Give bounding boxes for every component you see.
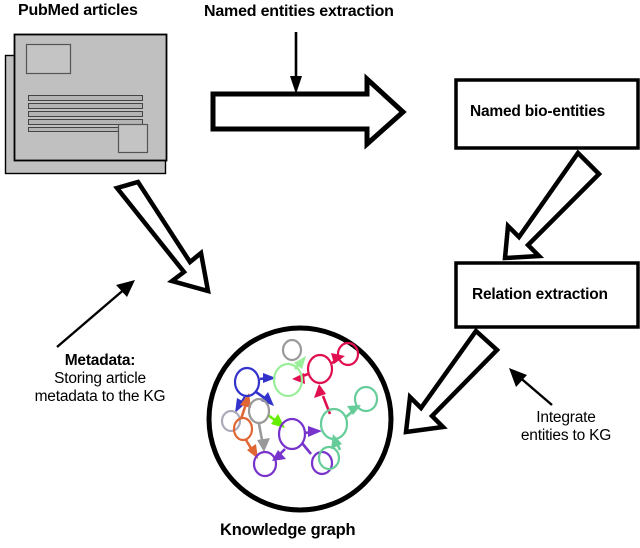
knowledge-graph-bubble [209, 328, 391, 510]
metadata-line-2: metadata to the KG [0, 388, 200, 406]
block-arrow-articles-to-kg [117, 182, 208, 291]
metadata-annotation: Metadata: Storing article metadata to th… [0, 352, 200, 406]
metadata-line-1: Storing article [0, 370, 200, 388]
label-knowledge-graph: Knowledge graph [220, 521, 355, 539]
label-named-entities-extraction: Named entities extraction [204, 3, 394, 21]
integrate-line-2: entities to KG [492, 427, 640, 445]
integrate-annotation: Integrate entities to KG [492, 409, 640, 445]
block-arrow-entities-to-relation [505, 153, 599, 258]
pubmed-document-stack [6, 35, 167, 174]
label-pubmed-articles: PubMed articles [18, 2, 138, 20]
document-header-box [27, 45, 71, 74]
integrate-line-1: Integrate [492, 409, 640, 427]
integrate-pointer-arrow [509, 368, 552, 405]
figure-canvas: PubMed articles Named entities extractio… [0, 0, 640, 548]
block-arrow-relation-to-kg [406, 331, 497, 432]
document-footer-box [119, 125, 148, 153]
metadata-heading: Metadata: [0, 352, 200, 370]
metadata-pointer-arrow [57, 280, 135, 347]
diagram-vector-layer [0, 0, 640, 548]
entities-extraction-pointer-arrow [290, 32, 302, 94]
label-relation-extraction: Relation extraction [472, 286, 608, 303]
label-named-bio-entities: Named bio-entities [470, 103, 605, 120]
block-arrow-right [213, 79, 403, 144]
